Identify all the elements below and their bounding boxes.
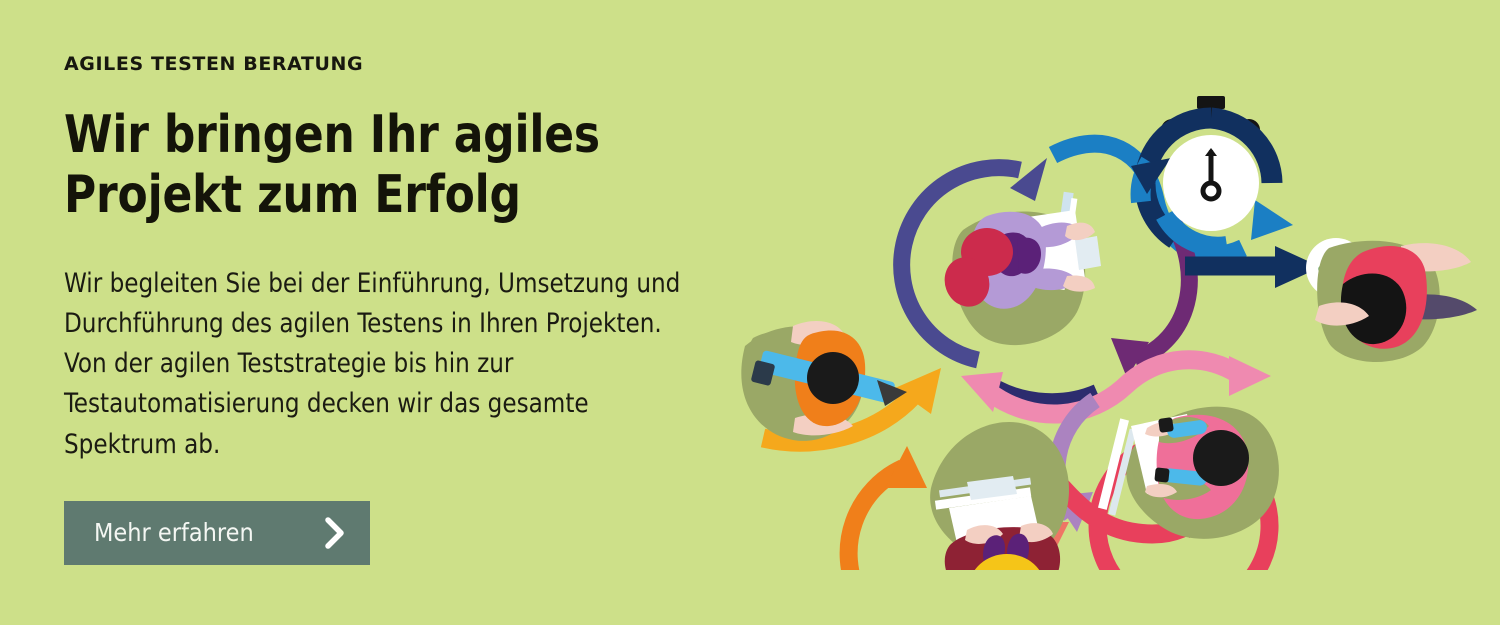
person-red-top xyxy=(1315,241,1477,362)
agile-team-illustration xyxy=(735,70,1495,570)
stopwatch-icon xyxy=(1131,96,1293,247)
page-title: Wir bringen Ihr agiles Projekt zum Erfol… xyxy=(64,105,722,226)
cta-label: Mehr erfahren xyxy=(94,518,294,547)
banner-description: Wir begleiten Sie bei der Einführung, Um… xyxy=(64,264,704,465)
person-purple-top xyxy=(938,192,1101,345)
mehr-erfahren-button[interactable]: Mehr erfahren xyxy=(64,501,370,565)
eyebrow-label: AGILES TESTEN BERATUNG xyxy=(64,54,784,75)
agile-testing-banner: AGILES TESTEN BERATUNG Wir bringen Ihr a… xyxy=(0,0,1500,625)
person-pink-top xyxy=(1098,407,1279,539)
banner-content: AGILES TESTEN BERATUNG Wir bringen Ihr a… xyxy=(64,54,784,565)
person-yellow-hair xyxy=(930,422,1069,570)
chevron-right-icon xyxy=(322,516,348,550)
